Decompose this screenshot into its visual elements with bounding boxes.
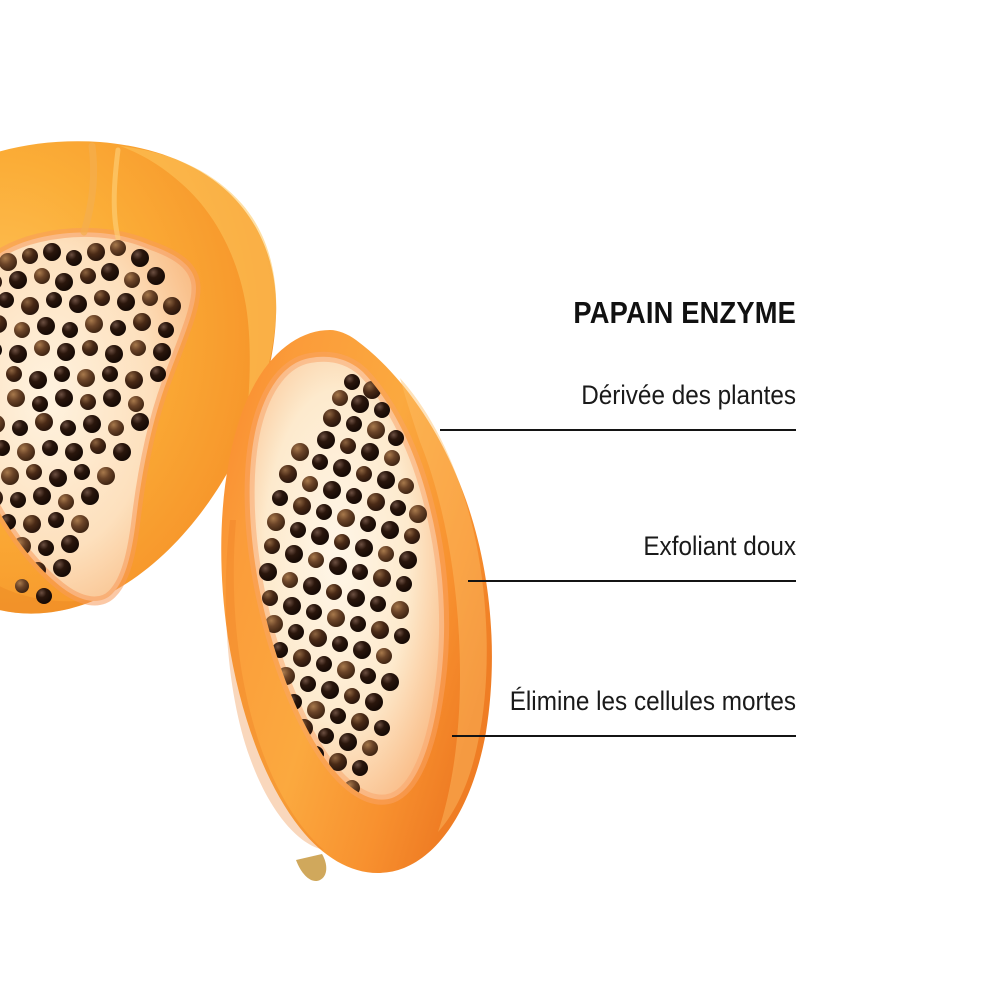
callout-item-derivee: Dérivée des plantes (0, 380, 796, 414)
page-title: PAPAIN ENZYME (360, 297, 796, 329)
callout-rule (468, 580, 796, 582)
infographic-canvas: PAPAIN ENZYME Dérivée des plantes Exfoli… (0, 0, 1000, 1000)
callout-item-elimine: Élimine les cellules mortes (0, 686, 796, 720)
callout-rule (440, 429, 796, 431)
callout-label: Élimine les cellules mortes (80, 686, 796, 720)
callout-item-exfoliant: Exfoliant doux (0, 531, 796, 565)
callout-label: Exfoliant doux (80, 531, 796, 565)
callout-layer: PAPAIN ENZYME Dérivée des plantes Exfoli… (0, 0, 1000, 1000)
callout-rule (452, 735, 796, 737)
callout-label: Dérivée des plantes (80, 380, 796, 414)
